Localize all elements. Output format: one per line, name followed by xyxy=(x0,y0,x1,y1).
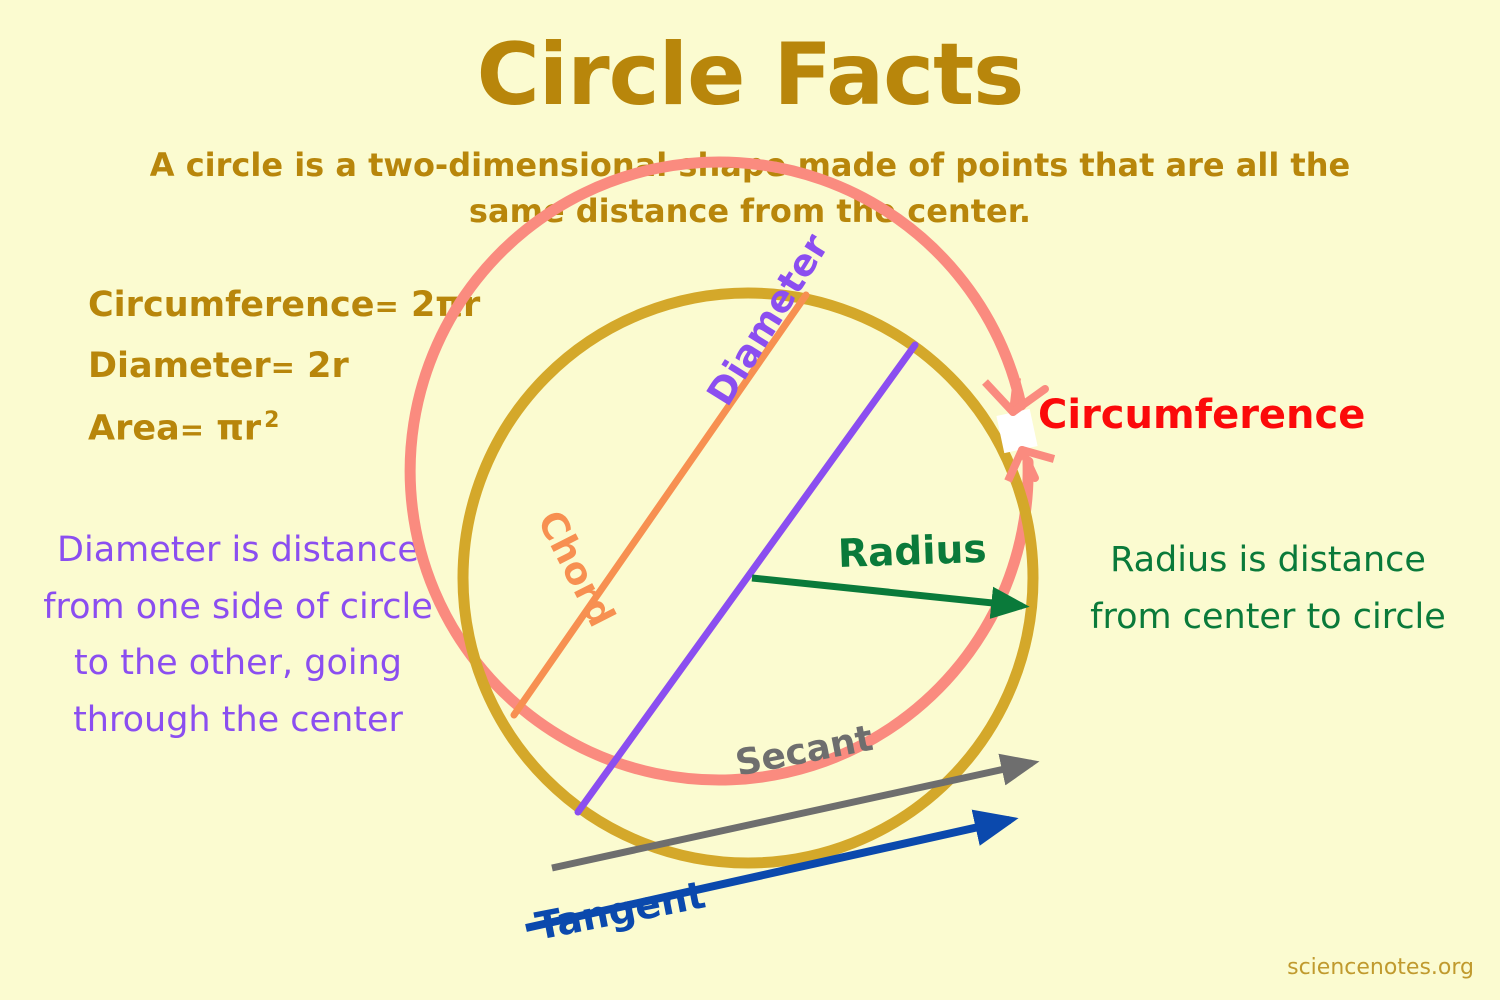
secant-arrow xyxy=(552,763,1032,868)
radius-arrow xyxy=(752,578,1022,606)
circumference-ring xyxy=(410,162,1028,780)
pink-circumference-arc xyxy=(410,162,1028,780)
infographic-canvas: Circle Facts A circle is a two-dimension… xyxy=(0,0,1500,1000)
radius-label: Radius xyxy=(837,527,987,577)
circumference-label: Circumference xyxy=(1038,392,1365,438)
site-credit: sciencenotes.org xyxy=(1287,955,1474,980)
circle-diagram xyxy=(0,0,1500,1000)
